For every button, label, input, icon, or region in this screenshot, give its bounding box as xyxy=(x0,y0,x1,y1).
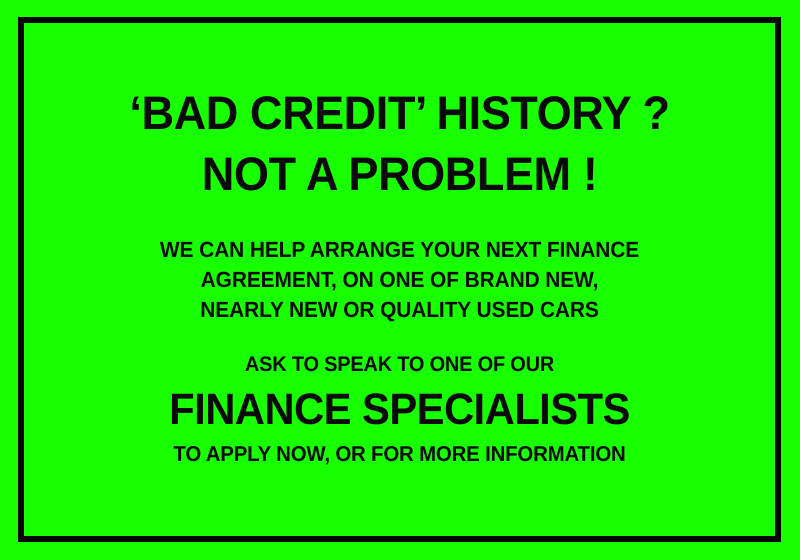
body-copy-block: WE CAN HELP ARRANGE YOUR NEXT FINANCE AG… xyxy=(18,239,781,329)
headline-line-2: NOT A PROBLEM ! xyxy=(33,150,765,197)
headline-block: ‘BAD CREDIT’ HISTORY ? NOT A PROBLEM ! xyxy=(18,89,781,197)
cta-footer-text: TO APPLY NOW, OR FOR MORE INFORMATION xyxy=(37,444,762,466)
body-copy-line-2: AGREEMENT, ON ONE OF BRAND NEW, xyxy=(37,269,762,291)
advertisement-poster: ‘BAD CREDIT’ HISTORY ? NOT A PROBLEM ! W… xyxy=(0,0,800,560)
body-copy-line-1: WE CAN HELP ARRANGE YOUR NEXT FINANCE xyxy=(37,239,762,261)
poster-content: ‘BAD CREDIT’ HISTORY ? NOT A PROBLEM ! W… xyxy=(18,17,781,542)
headline-line-1: ‘BAD CREDIT’ HISTORY ? xyxy=(33,89,765,136)
cta-headline-text: FINANCE SPECIALISTS xyxy=(37,388,762,432)
body-copy-line-3: NEARLY NEW OR QUALITY USED CARS xyxy=(37,299,762,321)
cta-lead-text: ASK TO SPEAK TO ONE OF OUR xyxy=(37,354,762,375)
call-to-action-block: ASK TO SPEAK TO ONE OF OUR FINANCE SPECI… xyxy=(18,354,781,466)
